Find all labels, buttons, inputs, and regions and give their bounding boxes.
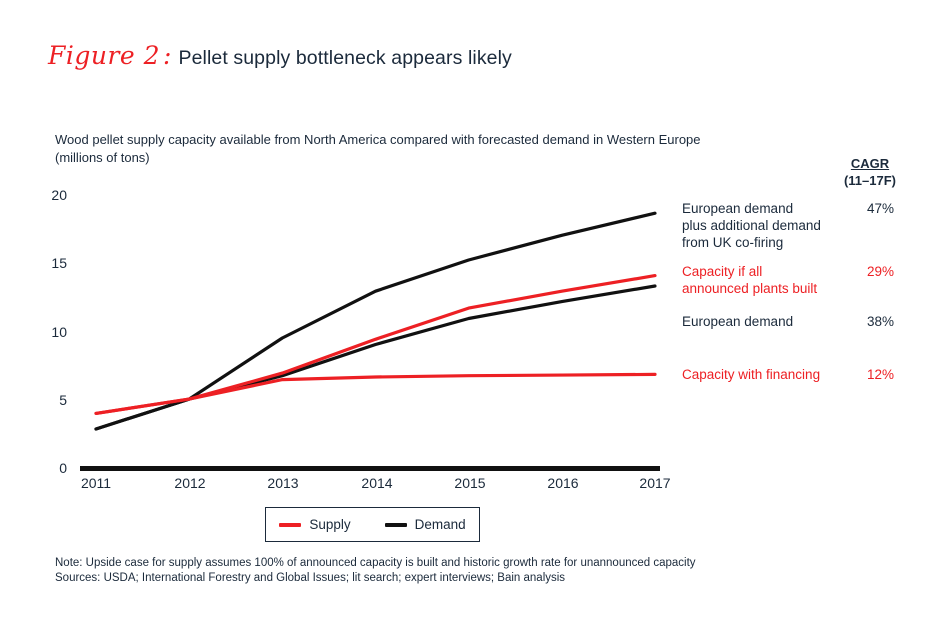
cagr-header-range: (11–17F) <box>838 172 902 189</box>
legend-item-supply[interactable]: Supply <box>279 517 350 532</box>
series-callout-line2: announced plants built <box>682 280 817 297</box>
x-axis-tick-2012: 2012 <box>174 475 205 491</box>
series-callout-capacity-announced: Capacity if all announced plants built 2… <box>682 263 817 297</box>
chart-subtitle-line2: (millions of tons) <box>55 149 701 167</box>
footnote-note: Note: Upside case for supply assumes 100… <box>55 556 696 571</box>
x-axis-tick-2015: 2015 <box>454 475 485 491</box>
chart-subtitle: Wood pellet supply capacity available fr… <box>55 131 701 167</box>
series-callout-european-demand-plus-uk: European demand plus additional demand f… <box>682 200 821 251</box>
series-callout-line1: European demand <box>682 200 821 217</box>
x-axis-tick-2011: 2011 <box>81 475 111 491</box>
chart-plot-area: 0 5 10 15 20 <box>80 195 660 468</box>
legend-swatch-supply-icon <box>279 523 301 527</box>
figure-colon: : <box>163 41 171 70</box>
legend-label-supply: Supply <box>309 517 350 532</box>
cagr-header-title: CAGR <box>838 155 902 172</box>
y-axis-tick-15: 15 <box>37 255 67 271</box>
y-axis-tick-0: 0 <box>37 460 67 476</box>
x-axis-tick-2017: 2017 <box>639 475 670 491</box>
legend-label-demand: Demand <box>415 517 466 532</box>
footnotes: Note: Upside case for supply assumes 100… <box>55 556 696 586</box>
series-callout-line1: European demand <box>682 313 793 330</box>
series-line-european-demand-plus-uk <box>96 213 655 429</box>
footnote-sources: Sources: USDA; International Forestry an… <box>55 571 696 586</box>
series-callout-capacity-financing: Capacity with financing 12% <box>682 366 820 383</box>
series-cagr-value: 29% <box>867 263 919 280</box>
legend-swatch-demand-icon <box>385 523 407 527</box>
chart-legend: Supply Demand <box>265 507 480 542</box>
y-axis-tick-5: 5 <box>37 392 67 408</box>
y-axis-tick-10: 10 <box>37 324 67 340</box>
series-line-capacity-financing <box>96 374 655 413</box>
series-callout-european-demand: European demand 38% <box>682 313 793 330</box>
series-callout-line2: plus additional demand <box>682 217 821 234</box>
figure-heading: Figure 2 : Pellet supply bottleneck appe… <box>48 41 512 70</box>
series-callout-line3: from UK co-firing <box>682 234 821 251</box>
series-cagr-value: 12% <box>867 366 919 383</box>
series-cagr-value: 47% <box>867 200 919 217</box>
figure-number-label: Figure 2 <box>48 41 160 70</box>
series-callout-line1: Capacity if all <box>682 263 817 280</box>
chart-series-svg <box>80 195 660 468</box>
series-line-european-demand <box>96 286 655 429</box>
cagr-column-header: CAGR (11–17F) <box>838 155 902 189</box>
legend-item-demand[interactable]: Demand <box>385 517 466 532</box>
chart-subtitle-line1: Wood pellet supply capacity available fr… <box>55 131 701 149</box>
x-axis-tick-2014: 2014 <box>361 475 392 491</box>
x-axis-baseline <box>80 466 660 471</box>
x-axis-tick-2013: 2013 <box>267 475 298 491</box>
x-axis-tick-2016: 2016 <box>547 475 578 491</box>
series-cagr-value: 38% <box>867 313 919 330</box>
series-callout-line1: Capacity with financing <box>682 366 820 383</box>
y-axis-tick-20: 20 <box>37 187 67 203</box>
page-title: Pellet supply bottleneck appears likely <box>178 47 511 70</box>
